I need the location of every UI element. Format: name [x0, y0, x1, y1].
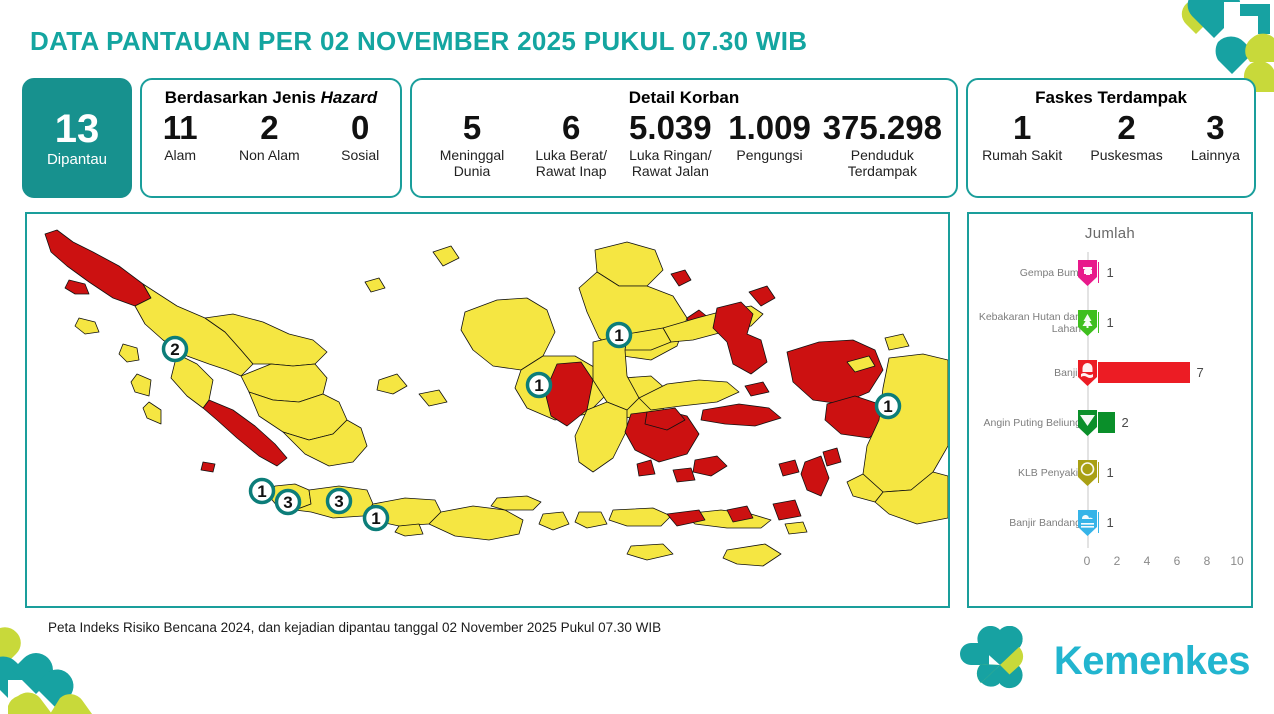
chart-bar-track: 2: [1087, 398, 1251, 448]
metric-sosial-value: 0: [351, 110, 369, 146]
metric-rumah-sakit-label: Rumah Sakit: [982, 147, 1062, 163]
chart-bar-value: 7: [1197, 365, 1204, 380]
metric-alam: 11 Alam: [163, 110, 198, 163]
chart-x-tick: 8: [1204, 554, 1211, 568]
map-marker-count: 1: [257, 482, 266, 501]
chart-bar: [1098, 362, 1190, 383]
map-marker[interactable]: 1: [251, 480, 274, 503]
chart-bar-track: 1: [1087, 448, 1251, 498]
chart-bar-track: 1: [1087, 248, 1251, 298]
map-marker-layer: 21331111: [27, 214, 948, 606]
map-marker[interactable]: 1: [877, 395, 900, 418]
footnote: Peta Indeks Risiko Bencana 2024, dan kej…: [48, 620, 661, 635]
chart-x-tick: 6: [1174, 554, 1181, 568]
dipantau-value: 13: [55, 108, 100, 150]
metric-pengungsi-label: Pengungsi: [736, 147, 802, 163]
hazard-title-plain: Berdasarkan Jenis: [165, 88, 321, 107]
chart-axis-line: [1087, 252, 1089, 548]
chart-row: Kebakaran Hutan dan Lahan1: [969, 298, 1251, 348]
card-detail-korban: Detail Korban 5 Meninggal Dunia 6 Luka B…: [410, 78, 958, 198]
metric-luka-berat: 6 Luka Berat/ Rawat Inap: [525, 110, 617, 179]
chart-body: Gempa Bumi1Kebakaran Hutan dan Lahan1Ban…: [969, 248, 1251, 578]
card-jenis-hazard: Berdasarkan Jenis Hazard 11 Alam 2 Non A…: [140, 78, 402, 198]
card-detail-korban-title: Detail Korban: [629, 88, 740, 108]
indonesia-risk-map[interactable]: 21331111: [25, 212, 950, 608]
dipantau-label: Dipantau: [47, 151, 107, 168]
metric-penduduk-terdampak-label: Penduduk Terdampak: [848, 147, 917, 179]
map-marker[interactable]: 1: [365, 507, 388, 530]
chart-row: Gempa Bumi1: [969, 248, 1251, 298]
chart-x-tick: 4: [1144, 554, 1151, 568]
map-marker[interactable]: 1: [608, 324, 631, 347]
metric-rumah-sakit: 1 Rumah Sakit: [982, 110, 1062, 163]
chart-x-tick: 2: [1114, 554, 1121, 568]
chart-row: Angin Puting Beliung2: [969, 398, 1251, 448]
map-marker[interactable]: 3: [277, 491, 300, 514]
card-faskes-terdampak: Faskes Terdampak 1 Rumah Sakit 2 Puskesm…: [966, 78, 1256, 198]
map-marker-count: 1: [371, 509, 380, 528]
metric-alam-value: 11: [163, 110, 198, 146]
chart-category-label: KLB Penyakit: [969, 467, 1087, 479]
metric-lainnya-value: 3: [1206, 110, 1224, 146]
map-marker-count: 3: [334, 492, 343, 511]
metric-luka-berat-label: Luka Berat/ Rawat Inap: [535, 147, 607, 179]
tornado-icon: [1076, 409, 1099, 437]
map-marker-count: 2: [170, 340, 179, 359]
chart-row: KLB Penyakit1: [969, 448, 1251, 498]
forest-fire-icon: [1076, 309, 1099, 337]
chart-x-axis: 0246810: [1087, 554, 1243, 576]
metric-lainnya: 3 Lainnya: [1191, 110, 1240, 163]
metric-pengungsi: 1.009 Pengungsi: [724, 110, 816, 163]
chart-row: Banjir7: [969, 348, 1251, 398]
hazard-title-italic: Hazard: [321, 88, 378, 107]
chart-bar-track: 7: [1087, 348, 1251, 398]
metric-pengungsi-value: 1.009: [728, 110, 811, 146]
chart-x-tick: 10: [1230, 554, 1243, 568]
chart-bar-value: 1: [1106, 265, 1113, 280]
summary-cards: 13 Dipantau Berdasarkan Jenis Hazard 11 …: [22, 78, 1256, 198]
map-marker[interactable]: 1: [528, 374, 551, 397]
metric-meninggal-dunia: 5 Meninggal Dunia: [426, 110, 518, 179]
hazard-count-chart: Jumlah Gempa Bumi1Kebakaran Hutan dan La…: [967, 212, 1253, 608]
metric-sosial: 0 Sosial: [341, 110, 379, 163]
metric-luka-ringan-value: 5.039: [629, 110, 712, 146]
disease-outbreak-icon: [1076, 459, 1099, 487]
metric-puskesmas-label: Puskesmas: [1090, 147, 1162, 163]
chart-row: Banjir Bandang1: [969, 498, 1251, 548]
dashboard-page: DATA PANTAUAN PER 02 NOVEMBER 2025 PUKUL…: [0, 0, 1274, 714]
map-marker-count: 1: [534, 376, 543, 395]
metric-luka-ringan-label: Luka Ringan/ Rawat Jalan: [629, 147, 712, 179]
flash-flood-icon: [1076, 509, 1099, 537]
chart-x-tick: 0: [1084, 554, 1091, 568]
brand-name: Kemenkes: [1054, 639, 1250, 684]
chart-title: Jumlah: [969, 225, 1251, 242]
chart-category-label: Banjir: [969, 367, 1087, 379]
chart-rows: Gempa Bumi1Kebakaran Hutan dan Lahan1Ban…: [969, 248, 1251, 548]
metric-meninggal-dunia-value: 5: [463, 110, 481, 146]
card-jenis-hazard-title: Berdasarkan Jenis Hazard: [165, 88, 378, 108]
chart-bar-track: 1: [1087, 298, 1251, 348]
map-marker-count: 3: [283, 493, 292, 512]
kemenkes-logo-icon: [956, 626, 1042, 696]
chart-category-label: Banjir Bandang: [969, 517, 1087, 529]
chart-bar-value: 1: [1106, 315, 1113, 330]
chart-bar-value: 1: [1106, 515, 1113, 530]
metric-sosial-label: Sosial: [341, 147, 379, 163]
map-marker[interactable]: 2: [164, 338, 187, 361]
page-title: DATA PANTAUAN PER 02 NOVEMBER 2025 PUKUL…: [30, 26, 807, 57]
chart-bar-track: 1: [1087, 498, 1251, 548]
metric-meninggal-dunia-label: Meninggal Dunia: [440, 147, 505, 179]
metric-puskesmas: 2 Puskesmas: [1090, 110, 1162, 163]
chart-bar-value: 2: [1122, 415, 1129, 430]
metric-luka-berat-value: 6: [562, 110, 580, 146]
metric-puskesmas-value: 2: [1117, 110, 1135, 146]
metric-penduduk-terdampak: 375.298 Penduduk Terdampak: [823, 110, 942, 179]
chart-bar-value: 1: [1106, 465, 1113, 480]
metric-alam-label: Alam: [164, 147, 196, 163]
map-marker[interactable]: 3: [328, 490, 351, 513]
earthquake-icon: [1076, 259, 1099, 287]
metric-luka-ringan: 5.039 Luka Ringan/ Rawat Jalan: [624, 110, 716, 179]
chart-category-label: Kebakaran Hutan dan Lahan: [969, 311, 1087, 335]
chart-category-label: Angin Puting Beliung: [969, 417, 1087, 429]
metric-lainnya-label: Lainnya: [1191, 147, 1240, 163]
metric-penduduk-terdampak-value: 375.298: [823, 110, 942, 146]
metric-rumah-sakit-value: 1: [1013, 110, 1031, 146]
chart-bar: [1098, 412, 1115, 433]
metric-non-alam-value: 2: [260, 110, 278, 146]
flood-icon: [1076, 359, 1099, 387]
map-marker-count: 1: [883, 397, 892, 416]
card-faskes-title: Faskes Terdampak: [1035, 88, 1187, 108]
map-marker-count: 1: [614, 326, 623, 345]
metric-non-alam: 2 Non Alam: [239, 110, 300, 163]
card-dipantau: 13 Dipantau: [22, 78, 132, 198]
kemenkes-brand: Kemenkes: [956, 626, 1250, 696]
metric-non-alam-label: Non Alam: [239, 147, 300, 163]
chart-category-label: Gempa Bumi: [969, 267, 1087, 279]
